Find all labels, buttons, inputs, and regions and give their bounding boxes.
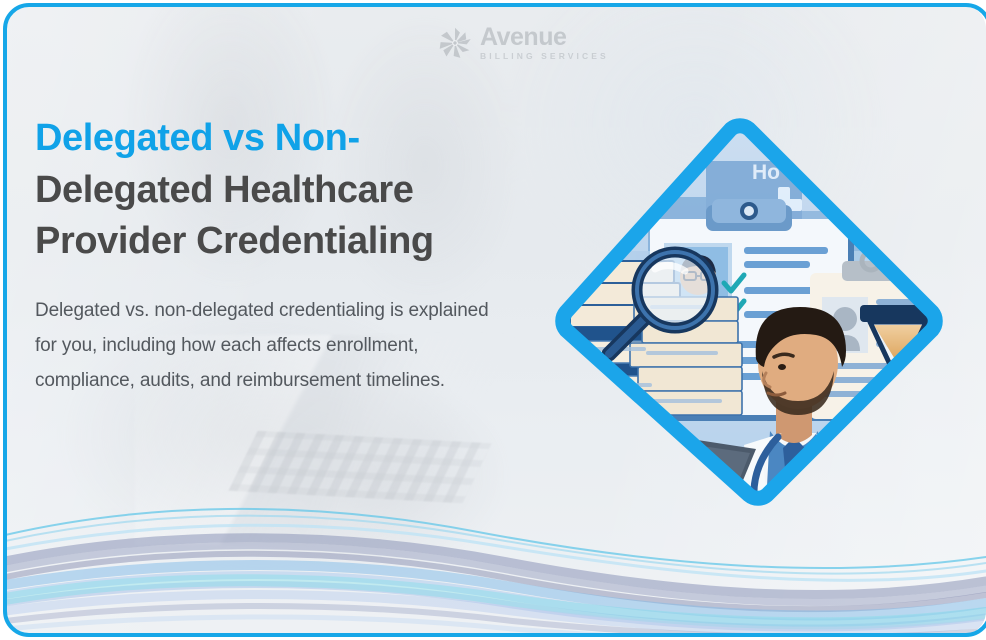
pinwheel-burst-icon	[437, 25, 473, 61]
brand-logo: Avenue BILLING SERVICES	[437, 25, 609, 61]
illustration-scene: Ho	[538, 101, 960, 541]
title-rest: Delegated Healthcare Provider Credential…	[35, 169, 434, 263]
printed-report-sheet	[734, 517, 878, 541]
title-highlight: Delegated vs Non-	[35, 117, 360, 159]
hero-card: Avenue BILLING SERVICES Delegated vs Non…	[0, 0, 986, 640]
brand-wordmark: Avenue BILLING SERVICES	[480, 25, 609, 61]
page-title: Delegated vs Non- Delegated Healthcare P…	[35, 113, 505, 268]
hero-copy: Delegated vs Non- Delegated Healthcare P…	[35, 113, 505, 398]
diamond-illustration-svg: Ho	[538, 101, 960, 541]
card-canvas: Avenue BILLING SERVICES Delegated vs Non…	[5, 5, 986, 635]
brand-name: Avenue	[480, 25, 609, 50]
hero-description: Delegated vs. non-delegated credentialin…	[35, 294, 497, 398]
hero-illustration: Ho	[538, 101, 960, 541]
brand-tagline: BILLING SERVICES	[480, 52, 609, 61]
